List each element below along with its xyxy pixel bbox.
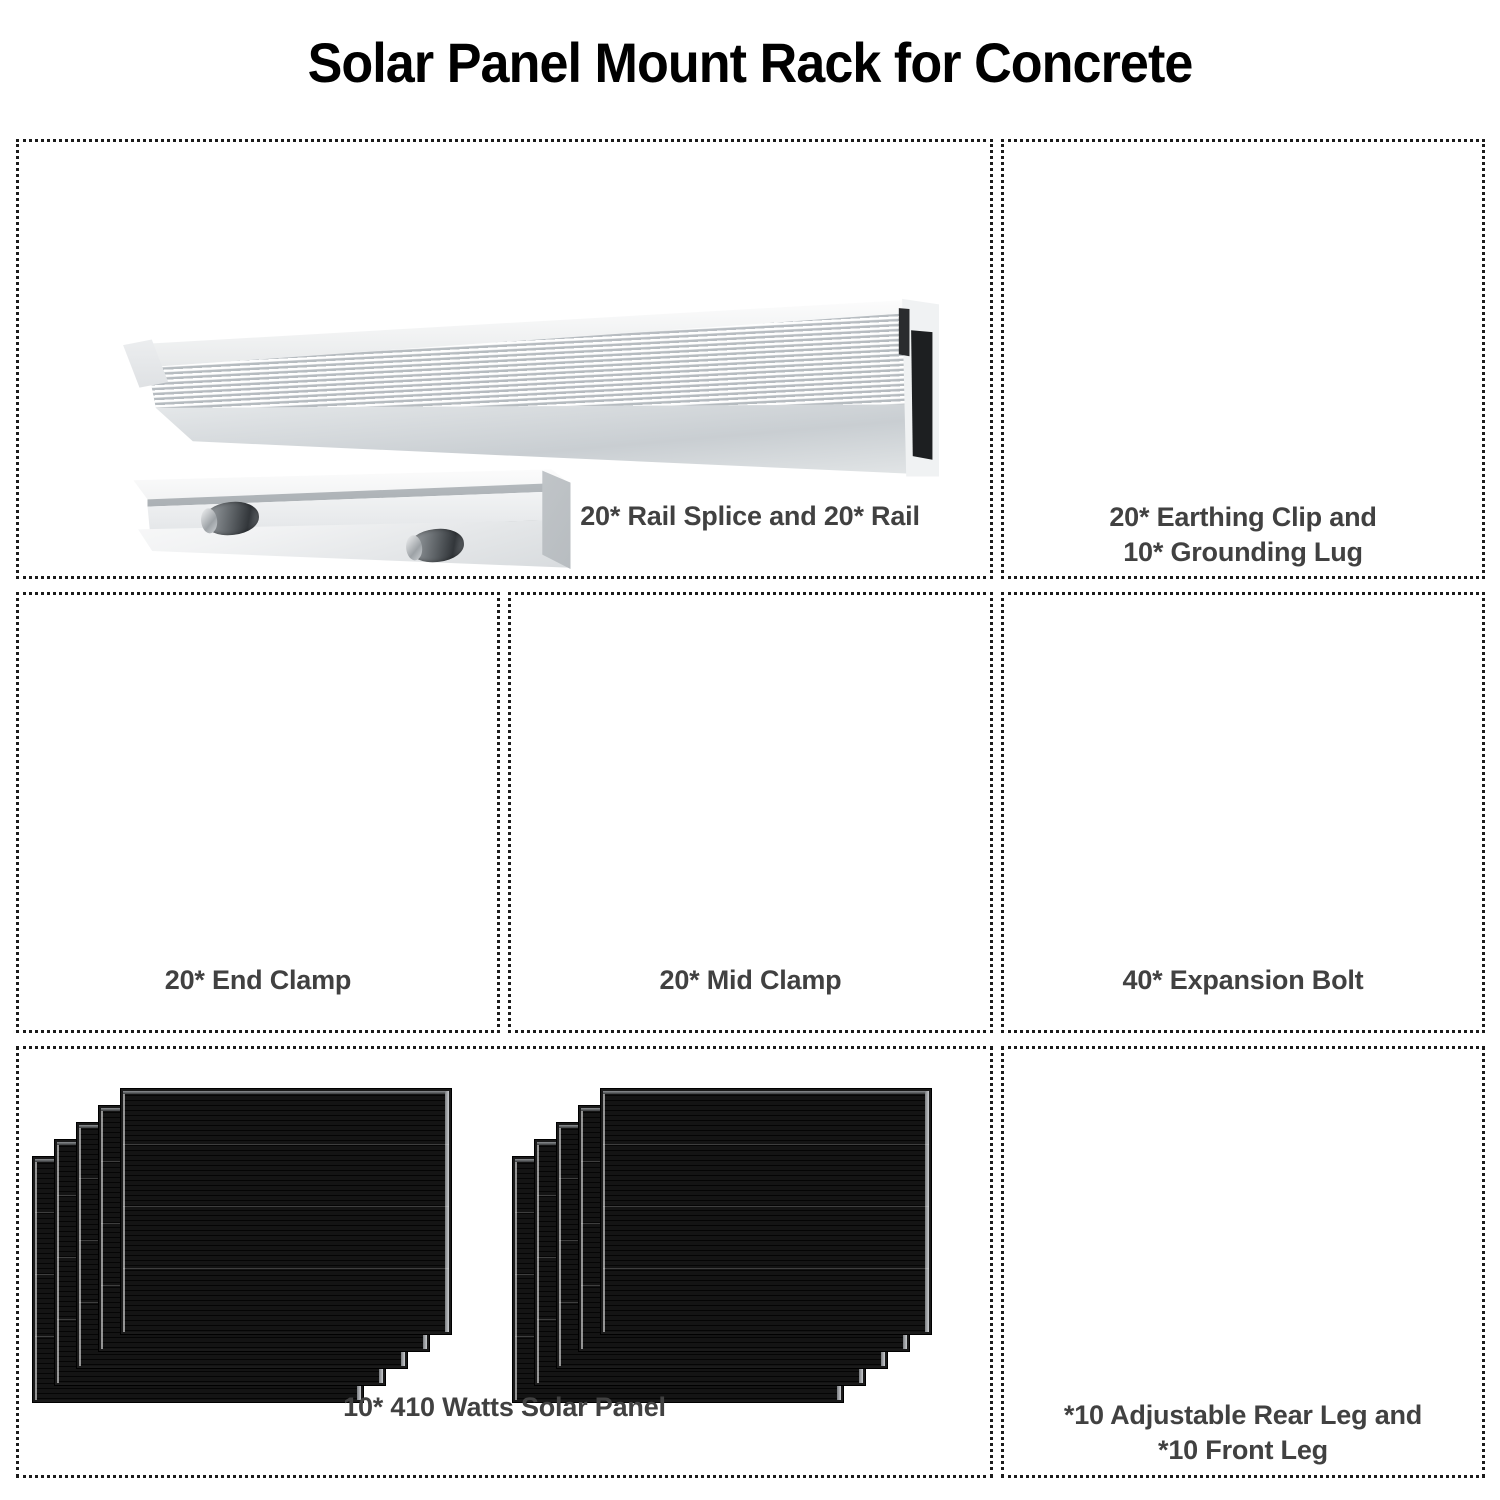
caption-legs: *10 Adjustable Rear Leg and *10 Front Le…	[1001, 1398, 1485, 1467]
solar-panel-item	[601, 1089, 931, 1334]
caption-expansion-bolt: 40* Expansion Bolt	[1001, 963, 1485, 998]
page-title: Solar Panel Mount Rack for Concrete	[53, 30, 1448, 95]
caption-line: *10 Adjustable Rear Leg and	[1001, 1398, 1485, 1433]
caption-mid-clamp: 20* Mid Clamp	[508, 963, 993, 998]
caption-line: *10 Front Leg	[1001, 1433, 1485, 1468]
caption-end-clamp: 20* End Clamp	[16, 963, 500, 998]
rail-image	[119, 297, 939, 482]
caption-line: 20* Earthing Clip and	[1001, 500, 1485, 535]
solar-panel-stack-left	[33, 1089, 503, 1399]
solar-panel-item	[121, 1089, 451, 1334]
caption-earthing: 20* Earthing Clip and 10* Grounding Lug	[1001, 500, 1485, 569]
caption-line: 10* Grounding Lug	[1001, 535, 1485, 570]
infographic-page: Solar Panel Mount Rack for Concrete	[0, 0, 1500, 1500]
caption-solar-panel: 10* 410 Watts Solar Panel	[16, 1390, 993, 1425]
solar-panel-stack-right	[513, 1089, 983, 1399]
